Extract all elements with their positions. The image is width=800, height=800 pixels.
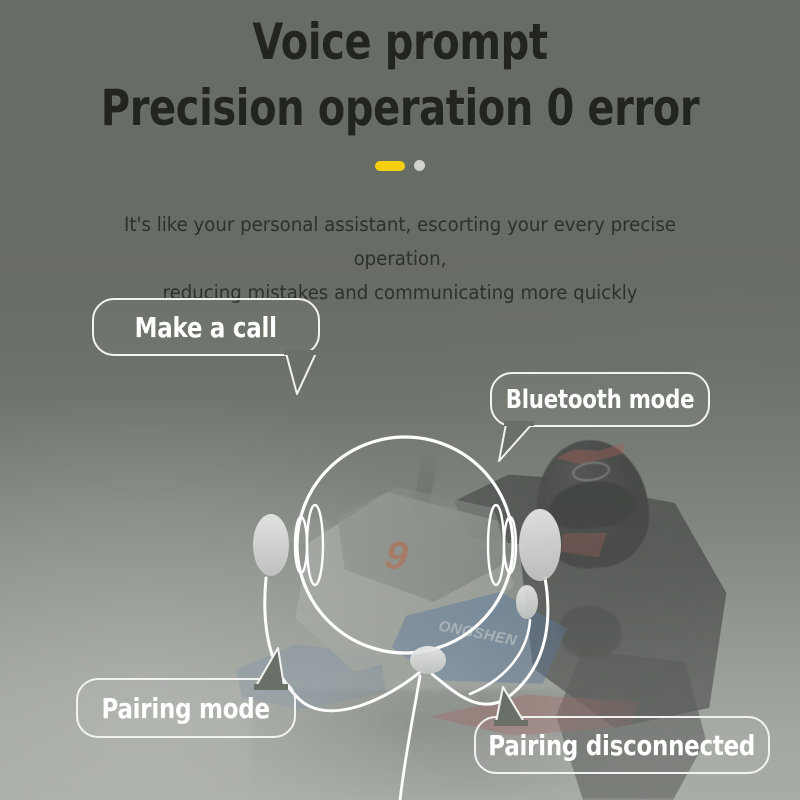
subtitle-line-1: It's like your personal assistant, escor… — [84, 208, 716, 276]
pagination-dot-active[interactable] — [375, 161, 405, 171]
callout-make-a-call[interactable]: Make a call — [92, 298, 320, 356]
page-title-line-2: Precision operation 0 error — [80, 80, 720, 136]
banner-root: 9 ONGSHEN — [0, 0, 800, 800]
callout-pairing-disconnected-label: Pairing disconnected — [489, 729, 756, 762]
callout-pairing-mode-label: Pairing mode — [102, 692, 270, 725]
callout-pairing-disconnected[interactable]: Pairing disconnected — [474, 716, 770, 774]
callout-pairing-mode[interactable]: Pairing mode — [76, 678, 296, 738]
fog-haze-left — [0, 400, 480, 800]
page-title-line-1: Voice prompt — [80, 14, 720, 70]
rider-glove — [560, 606, 622, 658]
callout-bluetooth-mode-label: Bluetooth mode — [506, 385, 695, 415]
pagination-dots[interactable] — [0, 160, 800, 171]
subtitle: It's like your personal assistant, escor… — [84, 208, 716, 310]
callout-bluetooth-mode[interactable]: Bluetooth mode — [490, 372, 710, 427]
callout-make-a-call-label: Make a call — [135, 311, 277, 344]
pagination-dot-2[interactable] — [414, 160, 425, 171]
